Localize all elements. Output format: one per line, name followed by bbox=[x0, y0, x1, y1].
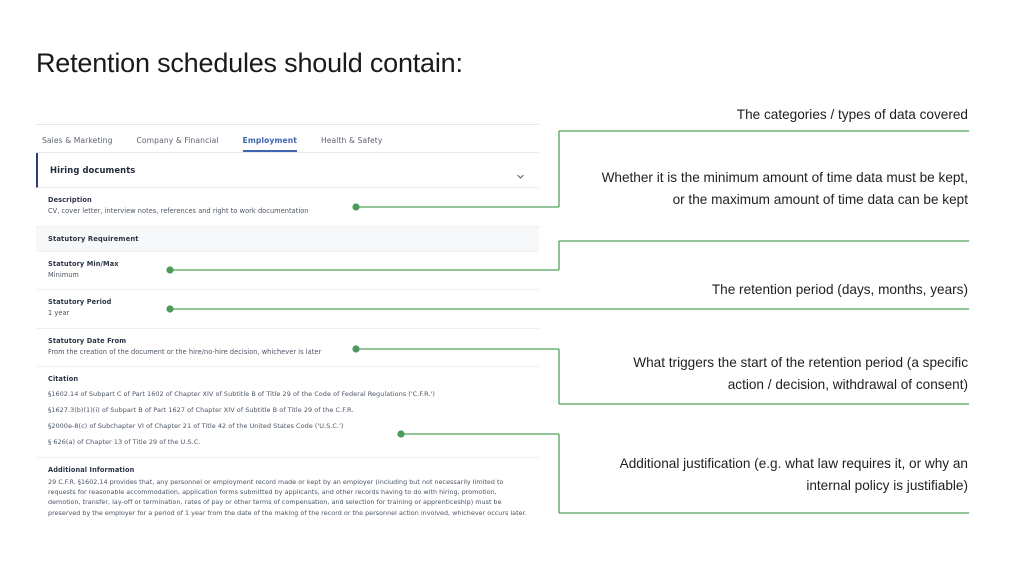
panel-title: Hiring documents bbox=[50, 165, 135, 175]
callout-categories: The categories / types of data covered bbox=[600, 104, 968, 126]
tab-bar: Sales & Marketing Company & Financial Em… bbox=[36, 125, 539, 153]
citation-line: §1602.14 of Subpart C of Part 1602 of Ch… bbox=[48, 390, 527, 399]
field-value: From the creation of the document or the… bbox=[48, 348, 527, 358]
field-additional-information: Additional Information 29 C.F.R. §1602.1… bbox=[36, 458, 539, 528]
field-value: 1 year bbox=[48, 309, 527, 319]
field-label: Citation bbox=[48, 375, 527, 383]
tab-sales-marketing[interactable]: Sales & Marketing bbox=[36, 136, 123, 152]
field-label: Statutory Min/Max bbox=[48, 260, 527, 268]
citation-line: §2000e-8(c) of Subchapter VI of Chapter … bbox=[48, 422, 527, 431]
callout-min-max: Whether it is the minimum amount of time… bbox=[600, 167, 968, 211]
field-value: Minimum bbox=[48, 271, 527, 281]
callout-retention-period: The retention period (days, months, year… bbox=[600, 279, 968, 301]
chevron-down-icon[interactable] bbox=[516, 166, 525, 175]
field-value: CV, cover letter, interview notes, refer… bbox=[48, 207, 527, 217]
field-statutory-period: Statutory Period 1 year bbox=[36, 290, 539, 329]
field-description: Description CV, cover letter, interview … bbox=[36, 188, 539, 227]
field-statutory-min-max: Statutory Min/Max Minimum bbox=[36, 252, 539, 291]
hiring-documents-accordion-header[interactable]: Hiring documents bbox=[36, 153, 539, 188]
retention-schedule-card: Sales & Marketing Company & Financial Em… bbox=[36, 124, 539, 527]
section-title: Statutory Requirement bbox=[48, 235, 527, 243]
tab-company-financial[interactable]: Company & Financial bbox=[137, 136, 229, 152]
citation-line: § 626(a) of Chapter 13 of Title 29 of th… bbox=[48, 438, 527, 447]
field-value: 29 C.F.R. §1602.14 provides that, any pe… bbox=[48, 477, 527, 519]
field-label: Additional Information bbox=[48, 466, 527, 474]
callout-trigger: What triggers the start of the retention… bbox=[600, 352, 968, 396]
tab-health-safety[interactable]: Health & Safety bbox=[321, 136, 392, 152]
field-label: Description bbox=[48, 196, 527, 204]
field-label: Statutory Period bbox=[48, 298, 527, 306]
section-statutory-requirement: Statutory Requirement bbox=[36, 227, 539, 252]
field-label: Statutory Date From bbox=[48, 337, 527, 345]
tab-employment[interactable]: Employment bbox=[243, 136, 307, 152]
field-statutory-date-from: Statutory Date From From the creation of… bbox=[36, 329, 539, 368]
citation-line: §1627.3(b)(1)(i) of Subpart B of Part 16… bbox=[48, 406, 527, 415]
page-title: Retention schedules should contain: bbox=[36, 48, 463, 79]
field-citation: Citation §1602.14 of Subpart C of Part 1… bbox=[36, 367, 539, 457]
callout-justification: Additional justification (e.g. what law … bbox=[600, 453, 968, 497]
